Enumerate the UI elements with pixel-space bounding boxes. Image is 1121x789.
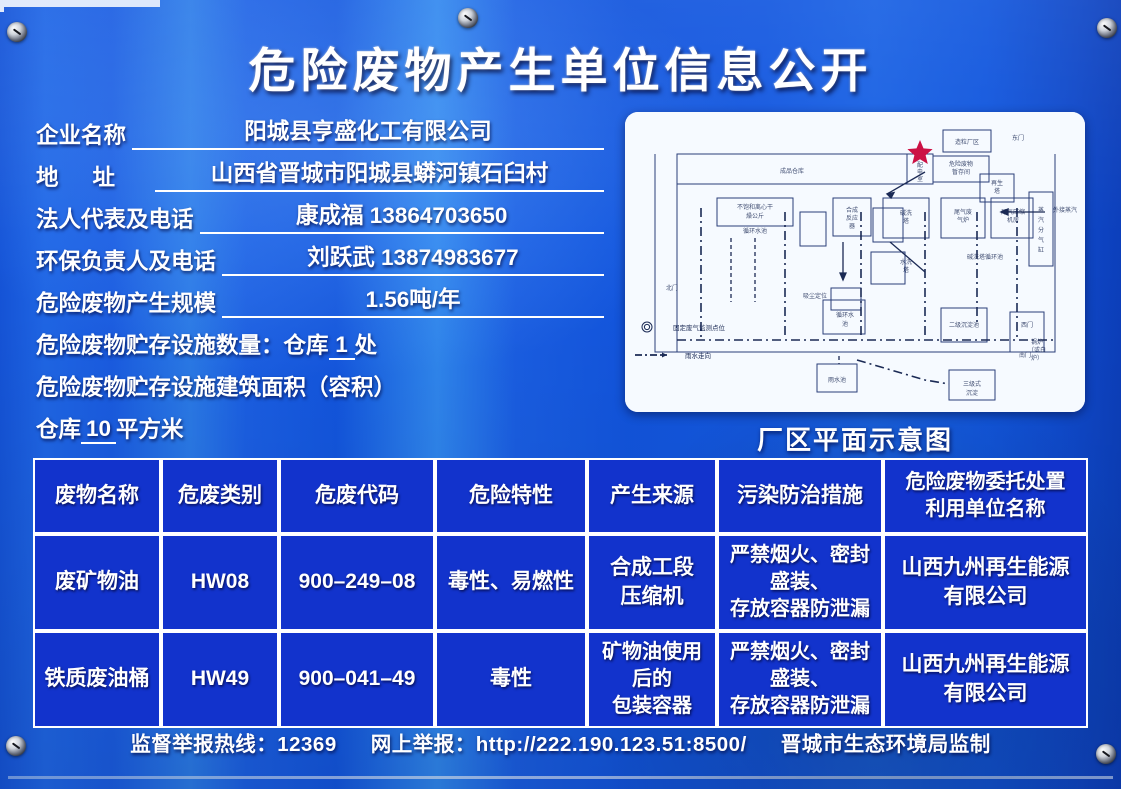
svg-text:再生: 再生 [991, 179, 1003, 187]
cell-source: 合成工段 压缩机 [587, 534, 717, 631]
info-row-waste-scale: 危险废物产生规模 1.56吨/年 [36, 276, 604, 318]
svg-text:不饱和离心干: 不饱和离心干 [737, 203, 773, 211]
svg-text:气炉: 气炉 [957, 216, 969, 224]
label-env-officer: 环保负责人及电话 [36, 244, 216, 276]
cell-entrusted-unit: 山西九州再生能源 有限公司 [883, 534, 1088, 631]
cell-waste-code: 900–249–08 [279, 534, 435, 631]
col-header-waste-name: 废物名称 [33, 458, 161, 534]
legend-text-monitoring: 固定废气监测点位 [673, 323, 726, 332]
svg-text:成品仓库: 成品仓库 [780, 167, 804, 175]
label-warehouse: 仓库 [36, 412, 81, 444]
cell-entrust-line2: 有限公司 [889, 583, 1082, 611]
mounting-screw-top-center [458, 8, 478, 28]
svg-text:蒸: 蒸 [1038, 206, 1044, 214]
value-storage-count: 1 [329, 332, 355, 360]
svg-text:南门: 南门 [1019, 351, 1031, 359]
board-edge-left [0, 0, 4, 12]
footer-authority: 晋城市生态环境局监制 [781, 727, 991, 757]
svg-text:北门: 北门 [666, 284, 678, 292]
svg-text:塔: 塔 [903, 217, 909, 225]
cell-measure-line1: 严禁烟火、密封盛装、 [723, 542, 877, 596]
footer-online-report[interactable]: 网上举报：http://222.190.123.51:8500/ [371, 727, 747, 757]
board-edge-highlight [0, 0, 160, 7]
svg-text:危险废物: 危险废物 [949, 160, 973, 168]
col-header-entrusted-unit-line1: 危险废物委托处置 [889, 469, 1082, 496]
cell-waste-name: 铁质废油桶 [33, 631, 161, 728]
cell-waste-category: HW08 [161, 534, 279, 631]
col-header-control-measures: 污染防治措施 [717, 458, 883, 534]
cell-source-line2: 包装容器 [593, 693, 711, 720]
info-row-legal-rep: 法人代表及电话 康成福 13864703650 [36, 192, 604, 234]
label-storage-count: 危险废物贮存设施数量：仓库 [36, 328, 329, 360]
svg-text:缸: 缸 [1038, 246, 1044, 254]
info-row-env-officer: 环保负责人及电话 刘跃武 13874983677 [36, 234, 604, 276]
table-header-row: 废物名称 危废类别 危废代码 危险特性 产生来源 污染防治措施 危险废物委托处置… [33, 458, 1088, 534]
table-row: 废矿物油 HW08 900–249–08 毒性、易燃性 合成工段 压缩机 严禁烟… [33, 534, 1088, 631]
svg-text:锅炉: 锅炉 [1031, 338, 1043, 346]
svg-text:器: 器 [849, 223, 855, 230]
svg-text:东门: 东门 [1012, 134, 1024, 142]
svg-text:反应: 反应 [846, 214, 858, 222]
col-header-waste-code: 危废代码 [279, 458, 435, 534]
svg-text:循环水: 循环水 [836, 311, 854, 319]
svg-text:池: 池 [842, 320, 848, 328]
svg-text:机房: 机房 [1007, 216, 1019, 224]
svg-text:尾气废: 尾气废 [954, 208, 972, 216]
value-env-officer: 刘跃武 13874983677 [222, 240, 604, 276]
cell-waste-code: 900–041–49 [279, 631, 435, 728]
value-legal-rep: 康成福 13864703650 [200, 198, 604, 234]
label-address: 地址 [36, 160, 149, 192]
svg-text:西门: 西门 [1021, 321, 1033, 329]
page-title: 危险废物产生单位信息公开 [0, 32, 1121, 101]
cell-measure-line2: 存放容器防泄漏 [723, 596, 877, 623]
label-legal-rep: 法人代表及电话 [36, 202, 194, 234]
label-storage-area: 危险废物贮存设施建筑面积（容积） [36, 370, 396, 402]
table-row: 铁质废油桶 HW49 900–041–49 毒性 矿物油使用后的 包装容器 严禁… [33, 631, 1088, 728]
col-header-source: 产生来源 [587, 458, 717, 534]
info-row-storage-count: 危险废物贮存设施数量：仓库 1 处 [36, 318, 604, 360]
footer-bar: 监督举报热线：12369 网上举报：http://222.190.123.51:… [0, 727, 1121, 757]
svg-text:水洗: 水洗 [900, 258, 912, 266]
legend-text-rainwater: 雨水走向 [685, 351, 711, 360]
svg-text:外接蒸汽: 外接蒸汽 [1053, 206, 1077, 214]
col-header-waste-category: 危废类别 [161, 458, 279, 534]
cell-waste-category: HW49 [161, 631, 279, 728]
svg-text:燥公斤: 燥公斤 [746, 212, 764, 220]
cell-control-measures: 严禁烟火、密封盛装、 存放容器防泄漏 [717, 534, 883, 631]
footer-hotline: 监督举报热线：12369 [130, 727, 337, 757]
svg-text:塔: 塔 [903, 266, 909, 274]
label-company-name: 企业名称 [36, 118, 126, 150]
value-company-name: 阳城县亨盛化工有限公司 [132, 114, 604, 150]
svg-text:二级沉淀池: 二级沉淀池 [949, 321, 979, 329]
svg-text:配: 配 [917, 162, 923, 169]
cell-waste-name: 废矿物油 [33, 534, 161, 631]
cell-source-line1: 矿物油使用后的 [593, 639, 711, 693]
cell-source-line2: 压缩机 [593, 583, 711, 611]
svg-text:暂存间: 暂存间 [952, 168, 970, 176]
info-row-company-name: 企业名称 阳城县亨盛化工有限公司 [36, 108, 604, 150]
svg-text:碱洗塔循环池: 碱洗塔循环池 [967, 253, 1003, 261]
svg-text:炉）: 炉） [1031, 354, 1043, 362]
diagram-caption: 厂区平面示意图 [625, 420, 1085, 457]
value-address: 山西省晋城市阳城县蟒河镇石臼村 [155, 156, 604, 192]
svg-text:沉淀: 沉淀 [966, 389, 978, 397]
info-row-storage-area-value: 仓库 10 平方米 [36, 402, 604, 444]
cell-entrust-line1: 山西九州再生能源 [889, 554, 1082, 582]
cell-hazard-property: 毒性 [435, 631, 587, 728]
svg-text:吸尘定位: 吸尘定位 [803, 292, 827, 300]
svg-text:分: 分 [1038, 226, 1044, 234]
col-header-entrusted-unit-line2: 利用单位名称 [889, 496, 1082, 523]
svg-text:造粒厂区: 造粒厂区 [955, 138, 979, 146]
svg-text:三级式: 三级式 [963, 380, 981, 388]
svg-text:塔: 塔 [994, 187, 1000, 195]
svg-text:雨水池: 雨水池 [828, 376, 846, 384]
label-waste-scale: 危险废物产生规模 [36, 286, 216, 318]
svg-text:循环水池: 循环水池 [743, 227, 767, 235]
cell-measure-line1: 严禁烟火、密封盛装、 [723, 639, 877, 693]
cell-source: 矿物油使用后的 包装容器 [587, 631, 717, 728]
svg-text:碱洗: 碱洗 [900, 209, 912, 217]
cell-source-line1: 合成工段 [593, 554, 711, 582]
svg-text:合成: 合成 [846, 206, 858, 214]
svg-text:尾气压缩: 尾气压缩 [1001, 208, 1025, 216]
cell-hazard-property: 毒性、易燃性 [435, 534, 587, 631]
company-info-block: 企业名称 阳城县亨盛化工有限公司 地址 山西省晋城市阳城县蟒河镇石臼村 法人代表… [36, 108, 604, 444]
suffix-storage-area: 平方米 [116, 412, 184, 444]
svg-text:汽: 汽 [1038, 216, 1044, 224]
cell-entrusted-unit: 山西九州再生能源 有限公司 [883, 631, 1088, 728]
info-row-address: 地址 山西省晋城市阳城县蟒河镇石臼村 [36, 150, 604, 192]
svg-text:气: 气 [1038, 236, 1044, 244]
value-storage-area: 10 [81, 416, 116, 444]
info-row-storage-area-heading: 危险废物贮存设施建筑面积（容积） [36, 360, 604, 402]
cell-control-measures: 严禁烟火、密封盛装、 存放容器防泄漏 [717, 631, 883, 728]
col-header-hazard-property: 危险特性 [435, 458, 587, 534]
waste-table-wrapper: 废物名称 危废类别 危废代码 危险特性 产生来源 污染防治措施 危险废物委托处置… [33, 458, 1088, 728]
board-edge-bottom [8, 776, 1113, 779]
suffix-storage-count: 处 [355, 328, 378, 360]
hazardous-waste-table: 废物名称 危废类别 危废代码 危险特性 产生来源 污染防治措施 危险废物委托处置… [33, 458, 1088, 728]
factory-layout-diagram: 成品仓库 配电室 造粒厂区 东门 危险废物暂存间 再生塔 不饱和离心干燥公斤 循… [625, 112, 1085, 412]
svg-text:室: 室 [917, 175, 923, 183]
cell-measure-line2: 存放容器防泄漏 [723, 693, 877, 720]
col-header-entrusted-unit: 危险废物委托处置 利用单位名称 [883, 458, 1088, 534]
cell-entrust-line2: 有限公司 [889, 680, 1082, 708]
svg-text:电: 电 [917, 168, 923, 176]
value-waste-scale: 1.56吨/年 [222, 282, 604, 318]
factory-layout-svg: 成品仓库 配电室 造粒厂区 东门 危险废物暂存间 再生塔 不饱和离心干燥公斤 循… [625, 112, 1085, 412]
cell-entrust-line1: 山西九州再生能源 [889, 651, 1082, 679]
